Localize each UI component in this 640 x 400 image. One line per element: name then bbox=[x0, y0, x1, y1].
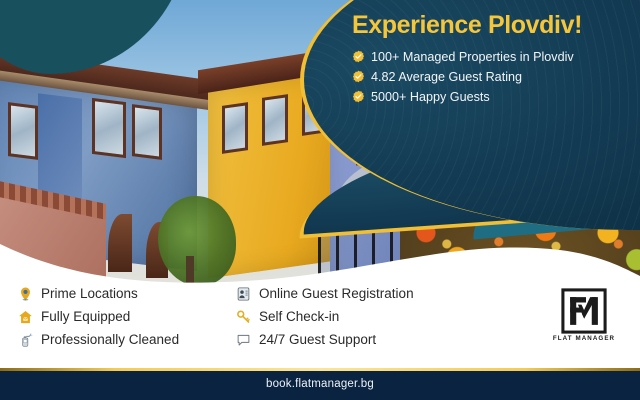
brand-logo: FLAT MANAGER bbox=[547, 288, 621, 352]
feature-label: 24/7 Guest Support bbox=[259, 332, 376, 347]
feature-item: 24/7 Guest Support bbox=[236, 328, 414, 351]
features-section: Prime Locations Fully Equipped bbox=[0, 282, 640, 362]
hero-bullet-list: 100+ Managed Properties in Plovdiv 4.82 … bbox=[352, 50, 632, 104]
footer-gold-rule bbox=[0, 368, 640, 371]
hero-bullet-label: 5000+ Happy Guests bbox=[371, 90, 490, 104]
hero-bullet-item: 4.82 Average Guest Rating bbox=[352, 70, 632, 84]
hero-bullet-label: 4.82 Average Guest Rating bbox=[371, 70, 522, 84]
check-badge-icon bbox=[352, 50, 365, 63]
house-icon bbox=[18, 309, 33, 325]
window bbox=[222, 102, 248, 154]
window bbox=[8, 102, 38, 160]
feature-label: Professionally Cleaned bbox=[41, 332, 179, 347]
spray-bottle-icon bbox=[18, 332, 33, 348]
window bbox=[262, 94, 288, 146]
feature-label: Self Check-in bbox=[259, 309, 339, 324]
feature-item: Self Check-in bbox=[236, 305, 414, 328]
feature-item: Professionally Cleaned bbox=[18, 328, 179, 351]
features-column-left: Prime Locations Fully Equipped bbox=[18, 282, 179, 351]
feature-item: Prime Locations bbox=[18, 282, 179, 305]
logo-wordmark: FLAT MANAGER bbox=[547, 335, 621, 342]
key-icon bbox=[236, 309, 251, 325]
window bbox=[92, 98, 126, 158]
window bbox=[356, 119, 384, 166]
feature-label: Fully Equipped bbox=[41, 309, 130, 324]
hero-title: Experience Plovdiv! bbox=[352, 12, 632, 40]
window bbox=[132, 104, 162, 160]
hero-bullet-label: 100+ Managed Properties in Plovdiv bbox=[371, 50, 574, 64]
hero-bullet-item: 100+ Managed Properties in Plovdiv bbox=[352, 50, 632, 64]
window bbox=[420, 123, 448, 170]
feature-item: Fully Equipped bbox=[18, 305, 179, 328]
feature-label: Online Guest Registration bbox=[259, 286, 414, 301]
footer-url[interactable]: book.flatmanager.bg bbox=[266, 378, 374, 390]
feature-item: Online Guest Registration bbox=[236, 282, 414, 305]
speech-bubble-icon bbox=[236, 332, 251, 348]
promo-banner: Experience Plovdiv! 100+ Managed Propert… bbox=[0, 0, 640, 400]
hero-content: Experience Plovdiv! 100+ Managed Propert… bbox=[352, 12, 632, 110]
fm-monogram-square-icon bbox=[561, 288, 607, 334]
footer-bar: book.flatmanager.bg bbox=[0, 368, 640, 400]
check-badge-icon bbox=[352, 90, 365, 103]
hero-bullet-item: 5000+ Happy Guests bbox=[352, 90, 632, 104]
id-card-icon bbox=[236, 286, 251, 302]
check-badge-icon bbox=[352, 70, 365, 83]
window bbox=[302, 86, 328, 136]
feature-label: Prime Locations bbox=[41, 286, 138, 301]
features-column-right: Online Guest Registration Self Check-in bbox=[236, 282, 414, 351]
location-pin-icon bbox=[18, 286, 33, 302]
